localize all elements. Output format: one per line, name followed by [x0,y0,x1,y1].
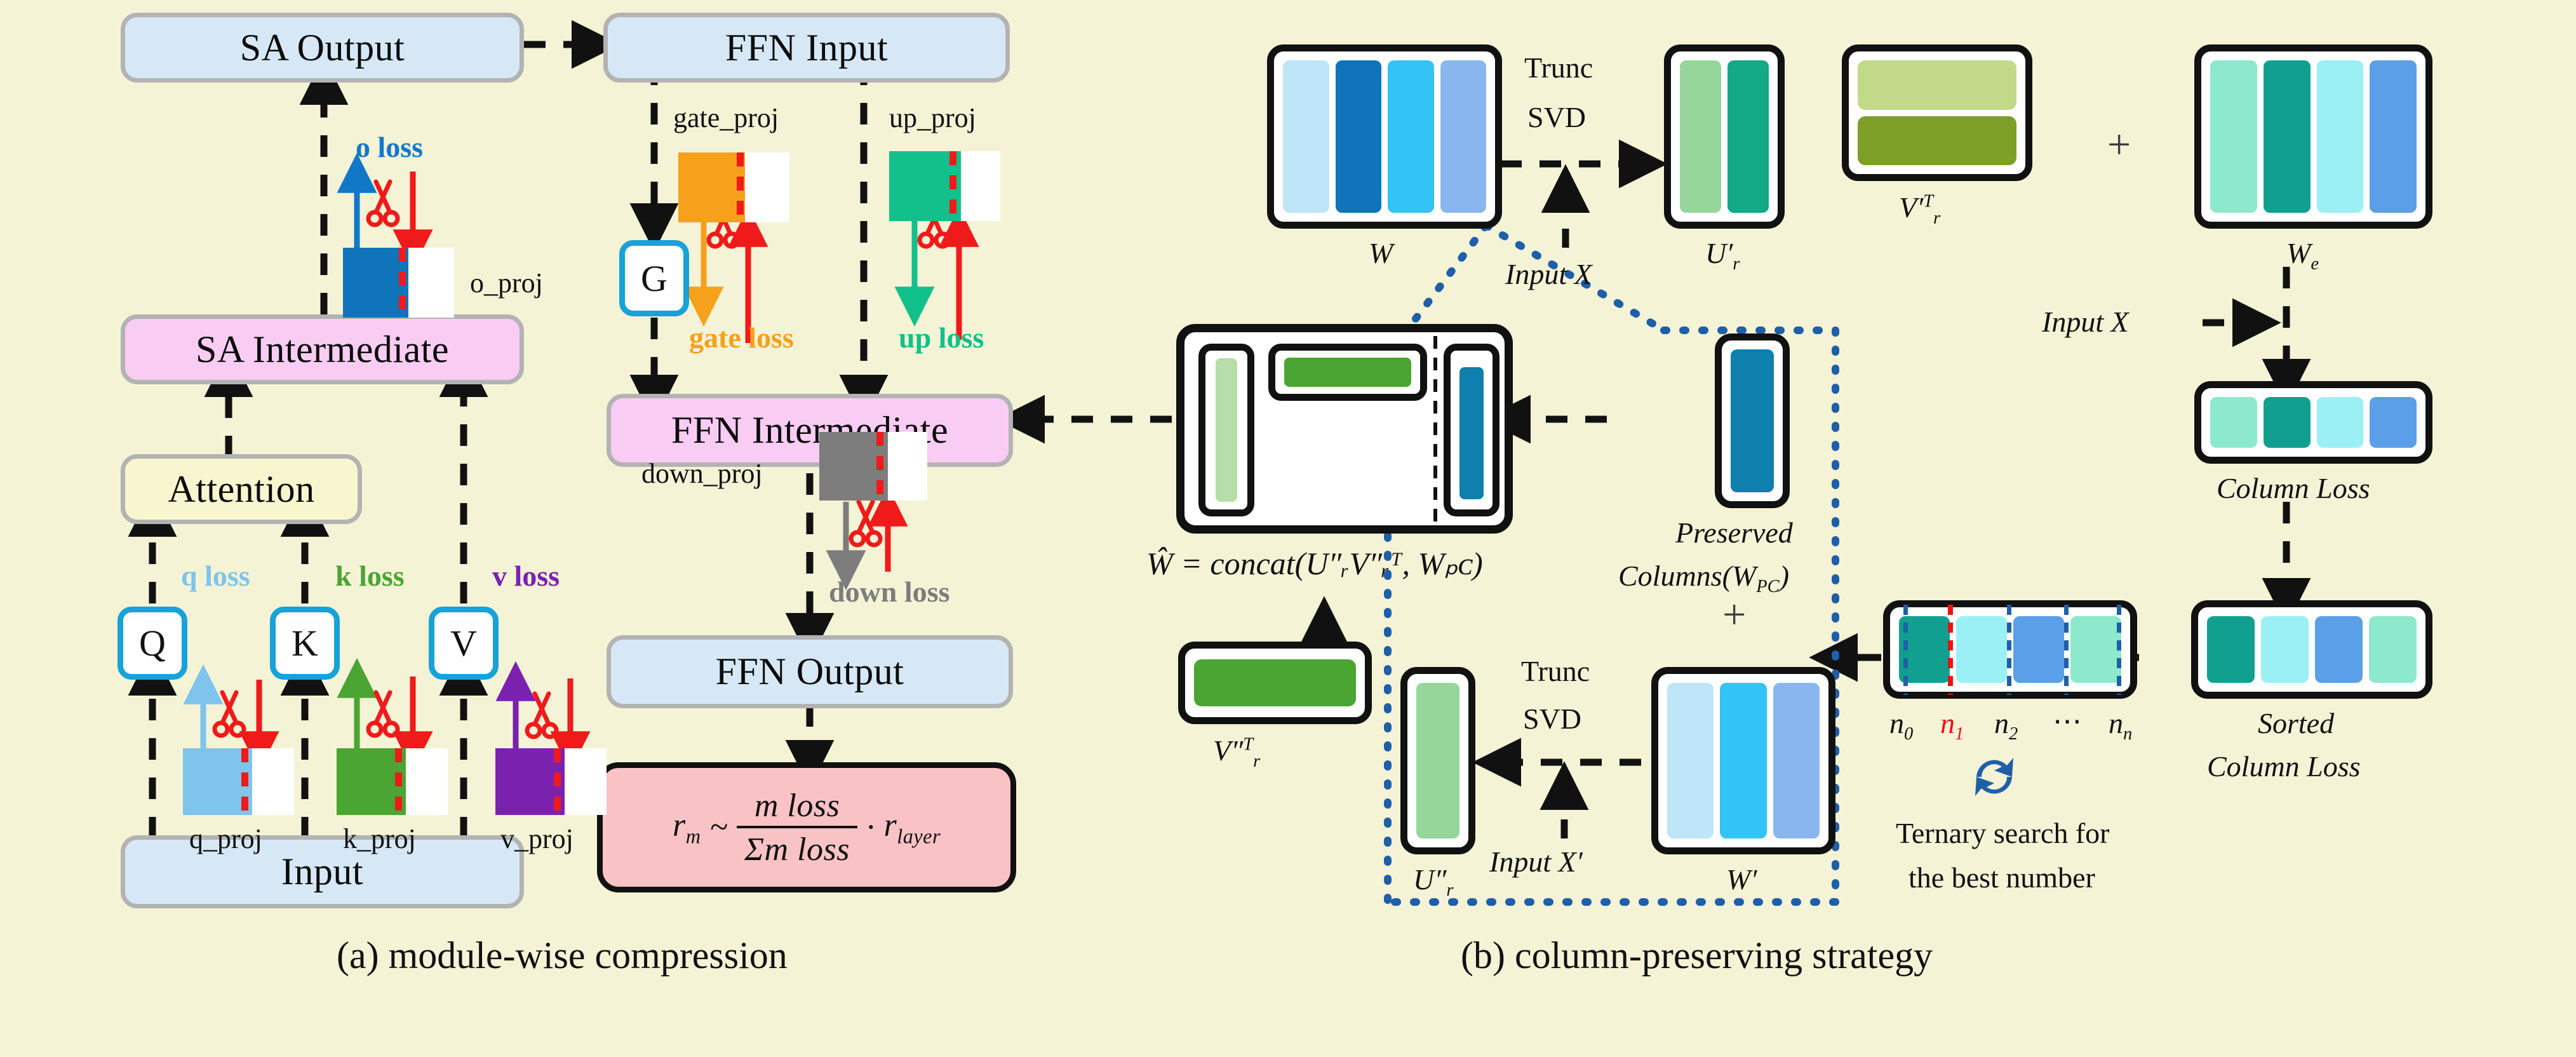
matrix-column-loss[interactable] [2194,381,2432,464]
gate-label: G [641,257,667,300]
stage-label: SA Output [240,26,405,70]
loss-label-q: q loss [181,559,250,593]
caption-panel-b: (b) column-preserving strategy [1461,934,1933,978]
matrix-sorted-column-loss[interactable] [2191,600,2432,699]
formula-sim: ~ [710,809,728,846]
matrix-caption-Ur-dprime: U″r [1413,863,1454,901]
what-divider [1433,336,1437,524]
matrix-cell [2369,616,2417,683]
loss-label-down: down loss [829,575,949,609]
matrix-caption-We: We [2286,236,2319,274]
matrix-column [1727,60,1769,213]
matrix-cell [2207,616,2255,683]
formula-numerator: m loss [737,787,857,826]
proj-cut-line [737,152,744,222]
plus-sign-preserved: + [1722,591,1746,639]
matrix-column [1720,683,1766,838]
matrix-column [1667,683,1714,838]
proj-label-gate: gate_proj [673,102,779,134]
ternary-search-line2: the best number [1909,861,2095,894]
svd-label-top: SVD [1527,100,1586,134]
matrix-Vr-dprimeT[interactable] [1178,642,1372,724]
matrix-caption-Vr-primeT: V′Tr [1899,191,1940,229]
matrix-cell [2210,397,2257,448]
matrix-caption-column-loss: Column Loss [2217,471,2370,505]
matrix-column [1773,683,1820,838]
formula-box: rm ~ m loss Σm loss · rlayer [597,762,1016,892]
stage-label: FFN Input [725,26,888,70]
formula-dot: · [866,809,875,846]
what-right-column [1459,367,1484,499]
matrix-caption-W: W [1369,236,1393,270]
proj-cut-line [949,151,956,221]
gate-label: K [292,622,318,664]
matrix-cell [1956,616,2007,683]
gate-label: Q [139,622,166,664]
refresh-cycle-icon [1962,746,2026,807]
matrix-cell [2261,616,2309,683]
matrix-row [1858,60,2016,110]
proj-white-region [961,151,1000,221]
stage-label: Attention [168,468,314,511]
loss-label-gate: gate loss [689,321,794,354]
split-line-n0 [1903,605,1908,695]
input-x-label-top: Input X [1505,257,1592,291]
ratio-formula: rm ~ m loss Σm loss · rlayer [673,787,941,868]
matrix-column [2264,60,2311,213]
proj-white-region [408,248,454,318]
matrix-cell [2070,616,2121,683]
index-label-n1: n1 [1940,706,1964,744]
proj-cut-line [399,248,406,318]
proj-block-k[interactable] [337,748,448,815]
stage-input[interactable]: Input [121,835,524,908]
matrix-row [1858,116,2016,166]
what-right-column-card [1444,344,1499,516]
gate-box-q[interactable]: Q [117,607,187,680]
matrix-column [1731,349,1774,492]
svd-label-bottom: SVD [1523,702,1581,736]
matrix-cell [2315,616,2363,683]
proj-label-v: v_proj [500,823,574,855]
stage-label: SA Intermediate [196,328,449,372]
matrix-cell [2013,616,2064,683]
figure-canvas: Ur' --> Ur'' --> SA Output FFN Input S [0,0,2576,1057]
matrix-Ur-prime[interactable] [1664,44,1785,229]
proj-label-q: q_proj [189,823,262,855]
proj-cut-line [554,748,561,815]
trunc-label-bottom: Trunc [1521,654,1590,688]
matrix-cell [2370,397,2417,448]
gate-box-v[interactable]: V [429,607,499,680]
stage-label: FFN Output [716,650,904,694]
stage-label: Input [281,850,363,894]
proj-cut-line [395,748,402,815]
proj-label-down: down_proj [641,457,763,490]
trunc-label-top: Trunc [1524,51,1593,84]
gate-label: V [450,622,477,664]
matrix-column [2370,60,2417,213]
matrix-caption-Ur-prime: U′r [1705,236,1740,274]
index-label-n2: n2 [1994,706,2018,744]
proj-block-v[interactable] [495,748,607,815]
split-line-nn [2117,605,2121,695]
loss-label-v: v loss [492,559,560,593]
matrix-column [1283,60,1329,213]
matrix-column [1336,60,1382,213]
plus-sign-top: + [2107,121,2131,169]
preserved-columns-line1: Preserved [1675,516,1793,549]
matrix-preserved-columns[interactable] [1715,333,1790,508]
input-x-prime-label: Input X′ [1489,845,1583,879]
formula-fraction: m loss Σm loss [737,787,857,868]
proj-block-q[interactable] [183,748,294,815]
what-top-row [1284,358,1411,387]
matrix-caption-Vr-dprimeT: V″Tr [1213,734,1260,772]
matrix-Vr-primeT[interactable] [1842,44,2032,181]
proj-white-region [252,748,294,815]
matrix-caption-sorted-2: Column Loss [2207,750,2361,783]
matrix-We[interactable] [2194,44,2432,229]
preserved-columns-line2: Columns(WPC) [1618,559,1789,597]
matrix-cell [2317,397,2364,448]
formula-denominator: Σm loss [737,826,857,868]
proj-block-up[interactable] [889,151,1000,221]
proj-block-down[interactable] [819,432,927,501]
split-line-nk [2064,605,2069,695]
gate-box-k[interactable]: K [270,607,340,680]
stage-sa-intermediate[interactable]: SA Intermediate [121,314,524,384]
what-left-column-card [1198,344,1254,516]
proj-white-region [888,432,927,501]
loss-label-up: up loss [899,321,984,354]
proj-block-gate[interactable] [678,152,789,222]
matrix-W[interactable] [1267,44,1502,229]
stage-ffn-input[interactable]: FFN Input [603,13,1010,83]
ternary-search-line1: Ternary search for [1896,816,2109,850]
split-line-n2 [2007,605,2011,695]
matrix-Ur-dprime[interactable] [1400,667,1475,854]
stage-ffn-intermediate[interactable]: FFN Intermediate [607,394,1013,467]
proj-white-region [406,748,448,815]
proj-label-o: o_proj [470,267,543,299]
matrix-column [1416,683,1459,838]
split-line-n1 [1948,605,1953,695]
index-label-n0: n0 [1889,706,1913,744]
what-left-column [1216,358,1237,502]
matrix-cell [2264,397,2311,448]
input-x-label-right: Input X [2042,305,2129,339]
proj-cut-line [876,432,883,501]
formula-lhs: rm [673,807,701,848]
formula-rhs: rlayer [884,807,941,848]
matrix-column [2317,60,2364,213]
stage-ffn-output[interactable]: FFN Output [607,635,1013,708]
matrix-column [2210,60,2257,213]
what-top-row-card [1268,344,1427,401]
proj-block-o[interactable] [343,248,454,318]
matrix-column [1680,60,1721,213]
index-label-ellipsis: ⋯ [2053,704,2082,738]
matrix-caption-sorted-1: Sorted [2258,706,2334,740]
proj-label-k: k_proj [343,823,416,855]
matrix-caption-W-prime: W′ [1726,863,1757,896]
stage-sa-output[interactable]: SA Output [121,13,524,83]
gate-box-g[interactable]: G [619,240,689,316]
proj-white-region [745,152,789,222]
index-label-nn: nn [2109,706,2132,744]
matrix-column [1440,60,1487,213]
proj-white-region [565,748,607,815]
proj-label-up: up_proj [889,102,976,134]
loss-label-o: o loss [356,130,423,164]
matrix-column [1388,60,1434,213]
stage-attention[interactable]: Attention [121,454,362,524]
matrix-row [1194,659,1356,706]
what-formula-caption: Ŵ = concat(U″ᵣV″ᵣᵀ, Wₚᴄ) [1146,545,1483,582]
proj-cut-line [241,748,248,815]
caption-panel-a: (a) module-wise compression [337,934,788,978]
matrix-What[interactable] [1176,324,1513,534]
matrix-W-prime[interactable] [1651,667,1835,854]
loss-label-k: k loss [335,559,405,593]
